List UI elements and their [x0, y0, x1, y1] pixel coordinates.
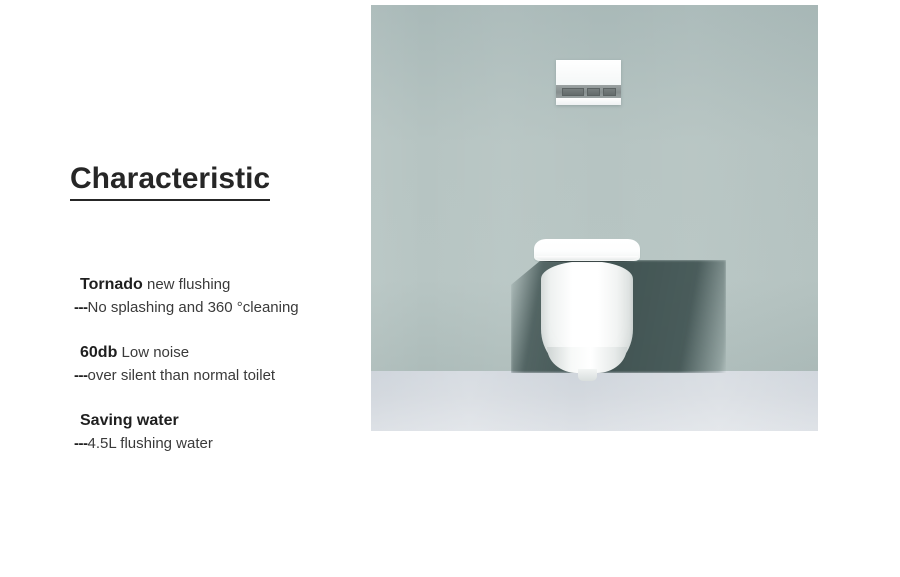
- flush-plate-button-band: [556, 85, 621, 98]
- characteristics-panel: Characteristic Tornado new flushing ---N…: [0, 0, 371, 577]
- feature-keyword-suffix: new flushing: [143, 276, 231, 293]
- detail-dash: ---: [74, 367, 88, 384]
- feature-keyword-suffix: Low noise: [117, 344, 189, 361]
- flush-button-half: [587, 88, 600, 96]
- feature-detail: ---over silent than normal toilet: [0, 365, 371, 387]
- detail-text: 4.5L flushing water: [88, 435, 213, 452]
- detail-dash: ---: [74, 435, 88, 452]
- toilet-seat-lid-edge: [536, 256, 638, 260]
- flush-button-full: [562, 88, 584, 96]
- feature-headline: Saving water: [0, 410, 371, 431]
- feature-detail: ---4.5L flushing water: [0, 433, 371, 455]
- feature-list: Tornado new flushing ---No splashing and…: [0, 274, 371, 478]
- toilet-seat-lid: [534, 239, 640, 261]
- feature-headline: 60db Low noise: [0, 342, 371, 363]
- toilet-outlet: [578, 369, 597, 381]
- feature-keyword: Tornado: [80, 276, 143, 293]
- feature-keyword: Saving water: [80, 412, 179, 429]
- feature-headline: Tornado new flushing: [0, 274, 371, 295]
- flush-plate: [556, 60, 621, 105]
- product-photo: [371, 5, 818, 431]
- flush-button-eco: [603, 88, 616, 96]
- list-item: Saving water ---4.5L flushing water: [0, 410, 371, 455]
- wall-hung-toilet: [534, 239, 640, 369]
- list-item: 60db Low noise ---over silent than norma…: [0, 342, 371, 387]
- detail-dash: ---: [74, 299, 88, 316]
- feature-keyword: 60db: [80, 344, 117, 361]
- detail-text: No splashing and 360 °cleaning: [88, 299, 299, 316]
- list-item: Tornado new flushing ---No splashing and…: [0, 274, 371, 319]
- detail-text: over silent than normal toilet: [88, 367, 276, 384]
- page-title: Characteristic: [70, 162, 270, 201]
- feature-detail: ---No splashing and 360 °cleaning: [0, 297, 371, 319]
- flush-plate-lip: [556, 98, 621, 105]
- flush-plate-top: [556, 60, 621, 85]
